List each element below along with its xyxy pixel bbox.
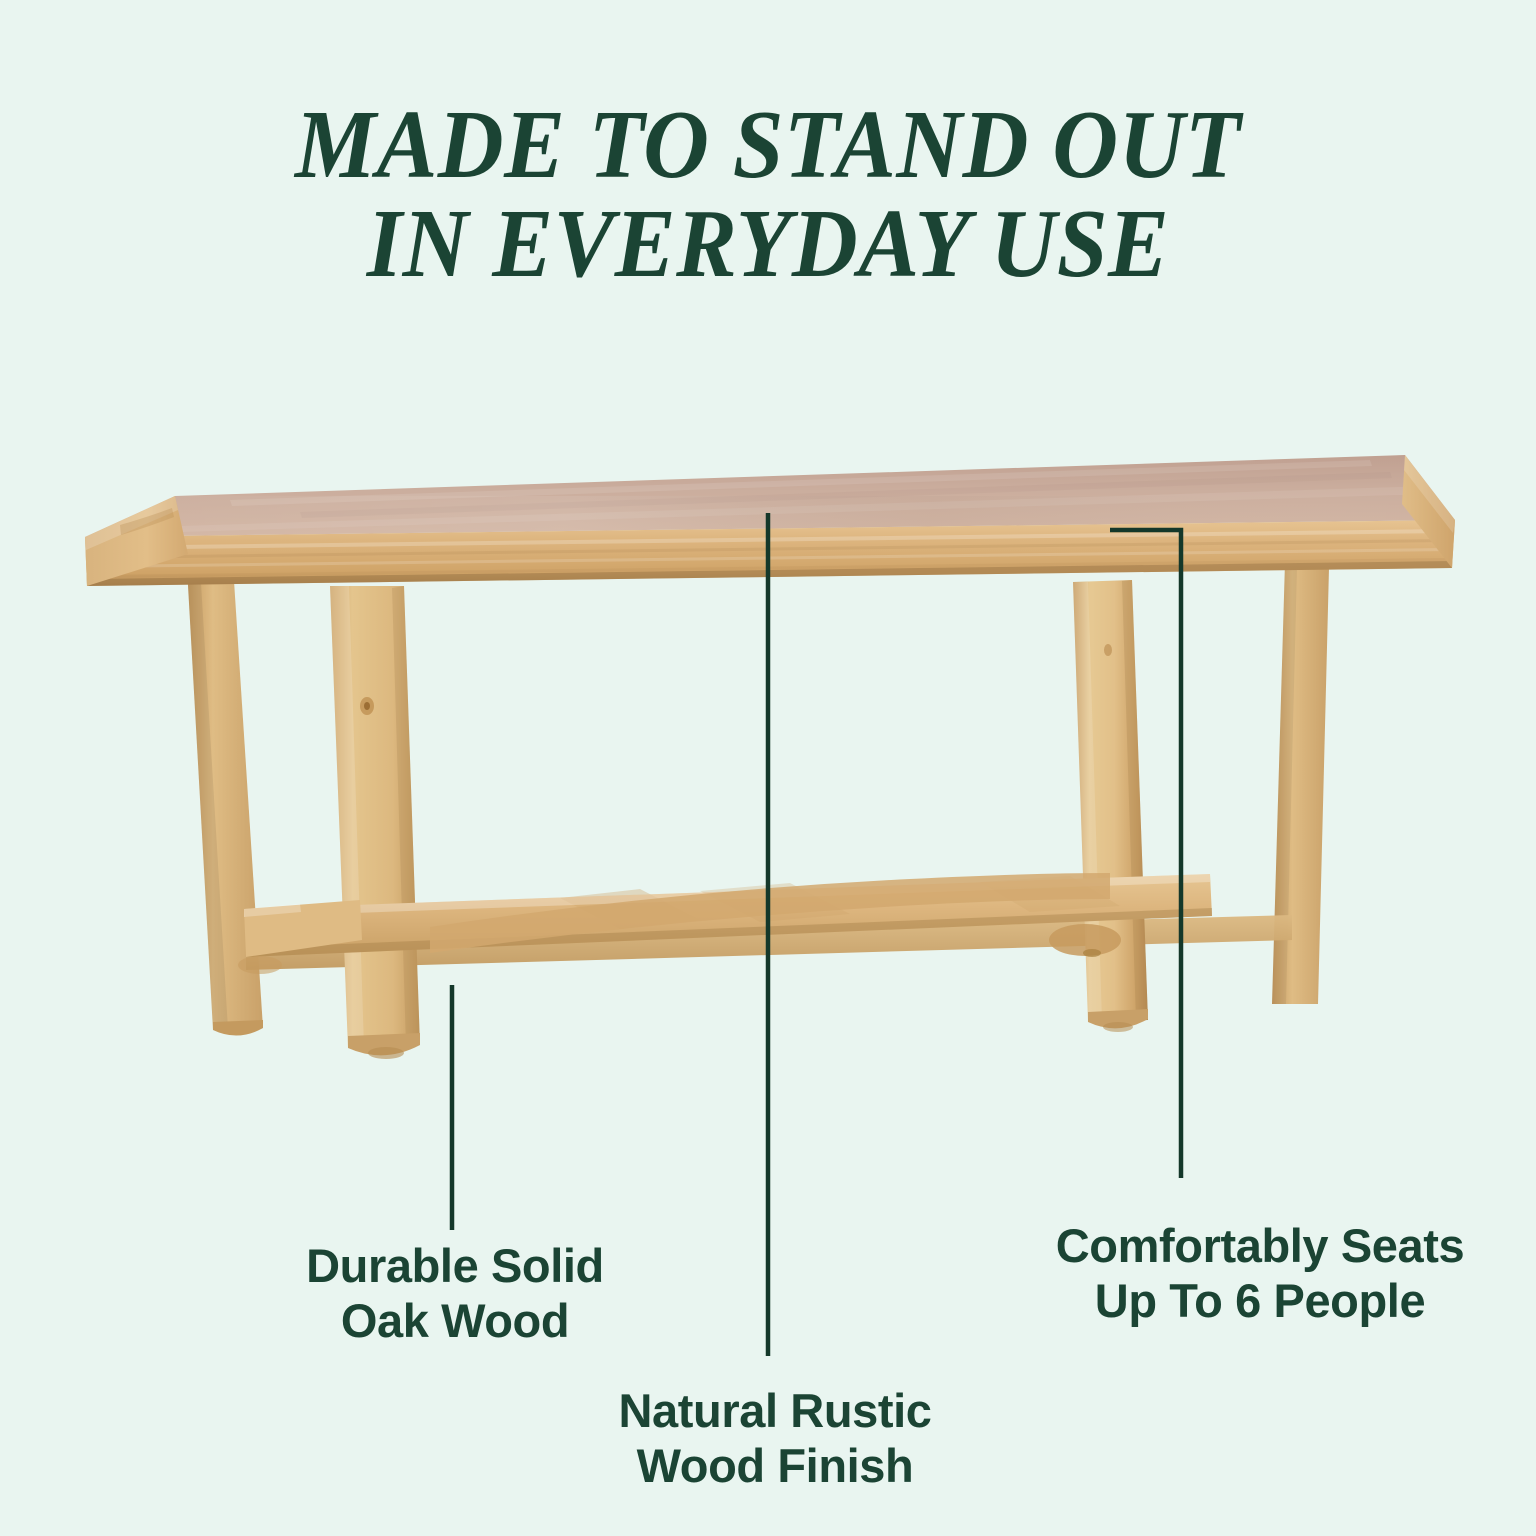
page-headline: MADE TO STAND OUT IN EVERYDAY USE [46, 96, 1490, 294]
callout-label-comfortably-seats-up-to-6-people: Comfortably Seats Up To 6 People [1000, 1218, 1520, 1329]
callout-label-natural-rustic-wood-finish: Natural Rustic Wood Finish [480, 1383, 1070, 1494]
product-image [0, 400, 1536, 1100]
table-leg-front-right [1073, 580, 1148, 1032]
product-feature-infographic: MADE TO STAND OUT IN EVERYDAY USE [0, 0, 1536, 1536]
table-top [85, 455, 1455, 586]
callout-label-durable-solid-oak-wood: Durable Solid Oak Wood [160, 1238, 750, 1349]
table-leg-front-left [330, 586, 420, 1059]
